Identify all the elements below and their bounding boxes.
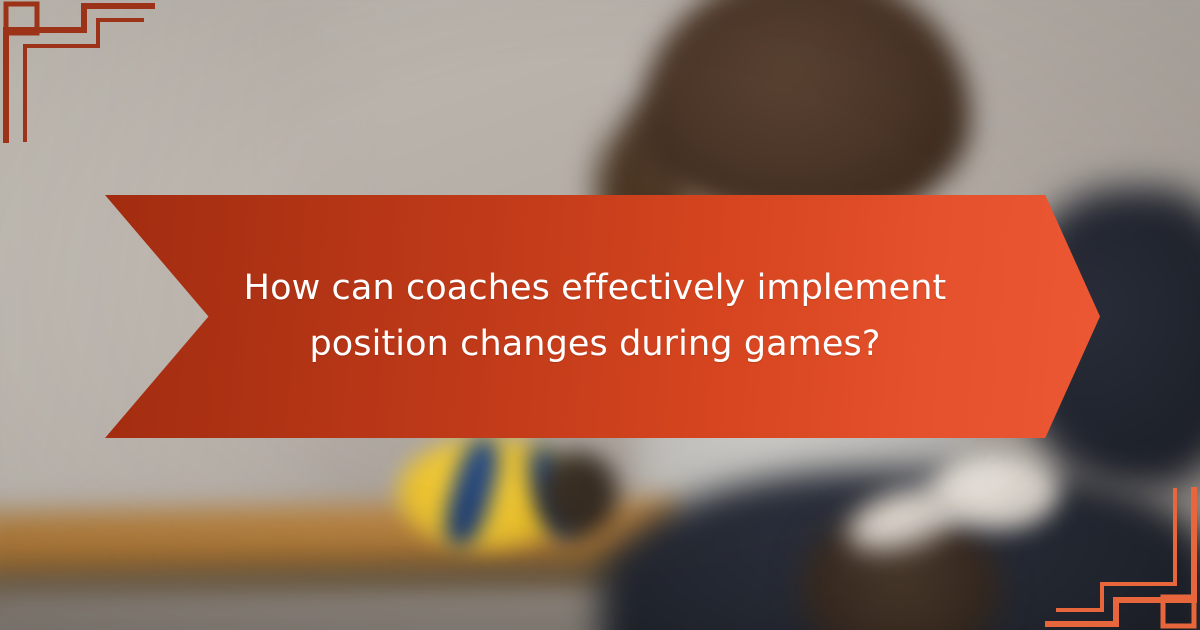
headline-text: How can coaches effectively implement po… (240, 195, 950, 438)
headline-banner: How can coaches effectively implement po… (105, 195, 1100, 438)
headline-line-1: How can coaches effectively implement (244, 261, 947, 316)
share-card: How can coaches effectively implement po… (0, 0, 1200, 630)
headline-line-2: position changes during games? (309, 317, 880, 372)
